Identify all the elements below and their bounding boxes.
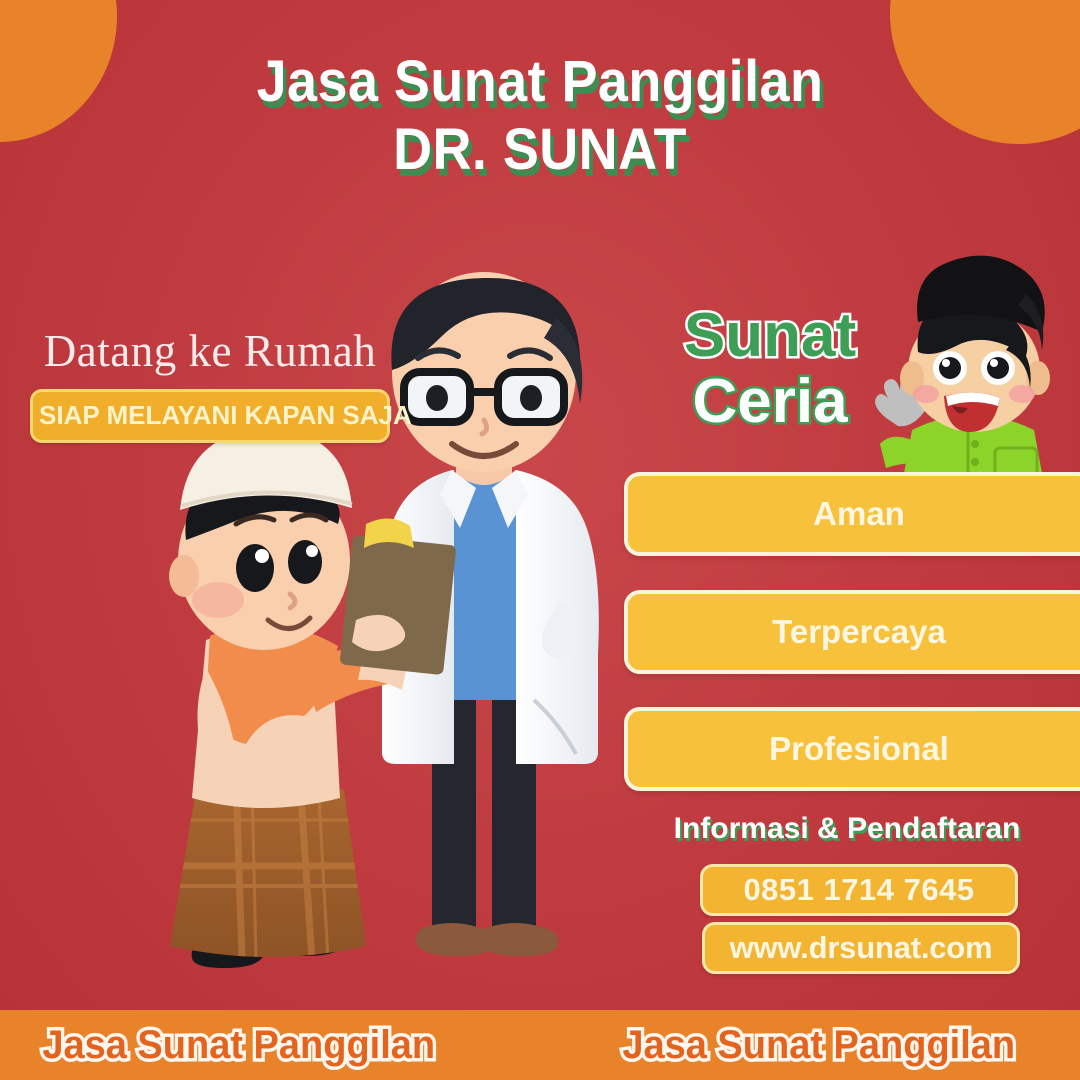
availability-badge: SIAP MELAYANI KAPAN SAJA bbox=[30, 389, 390, 443]
left-copy-block: Datang ke Rumah SIAP MELAYANI KAPAN SAJA bbox=[30, 325, 390, 443]
footer-text-left: Jasa Sunat Panggilan bbox=[42, 1023, 435, 1068]
corner-blob-top-left bbox=[0, 0, 117, 142]
boy-patient-illustration bbox=[169, 430, 410, 968]
brand-line-2: Ceria bbox=[640, 371, 900, 433]
feature-pill-aman[interactable]: Aman bbox=[624, 472, 1080, 556]
feature-pill-terpercaya[interactable]: Terpercaya bbox=[624, 590, 1080, 674]
tagline-text: Datang ke Rumah bbox=[30, 325, 390, 377]
doctor-illustration bbox=[381, 272, 599, 956]
info-heading: Informasi & Pendaftaran bbox=[624, 812, 1070, 846]
headline-line-2: DR. SUNAT bbox=[38, 120, 1042, 179]
website-badge[interactable]: www.drsunat.com bbox=[702, 922, 1020, 974]
footer-bar: Jasa Sunat Panggilan Jasa Sunat Panggila… bbox=[0, 1010, 1080, 1080]
feature-pill-profesional[interactable]: Profesional bbox=[624, 707, 1080, 791]
footer-text-right: Jasa Sunat Panggilan bbox=[622, 1023, 1015, 1068]
headline-line-1: Jasa Sunat Panggilan bbox=[38, 52, 1042, 111]
brand-lockup: Sunat Ceria bbox=[640, 305, 900, 433]
clipboard-illustration bbox=[339, 518, 456, 675]
brand-line-1: Sunat bbox=[640, 305, 900, 367]
phone-badge[interactable]: 0851 1714 7645 bbox=[700, 864, 1018, 916]
corner-blob-top-right bbox=[890, 0, 1080, 144]
mascot-illustration bbox=[875, 256, 1050, 484]
promo-poster: Jasa Sunat Panggilan DR. SUNAT Datang ke… bbox=[0, 0, 1080, 1080]
